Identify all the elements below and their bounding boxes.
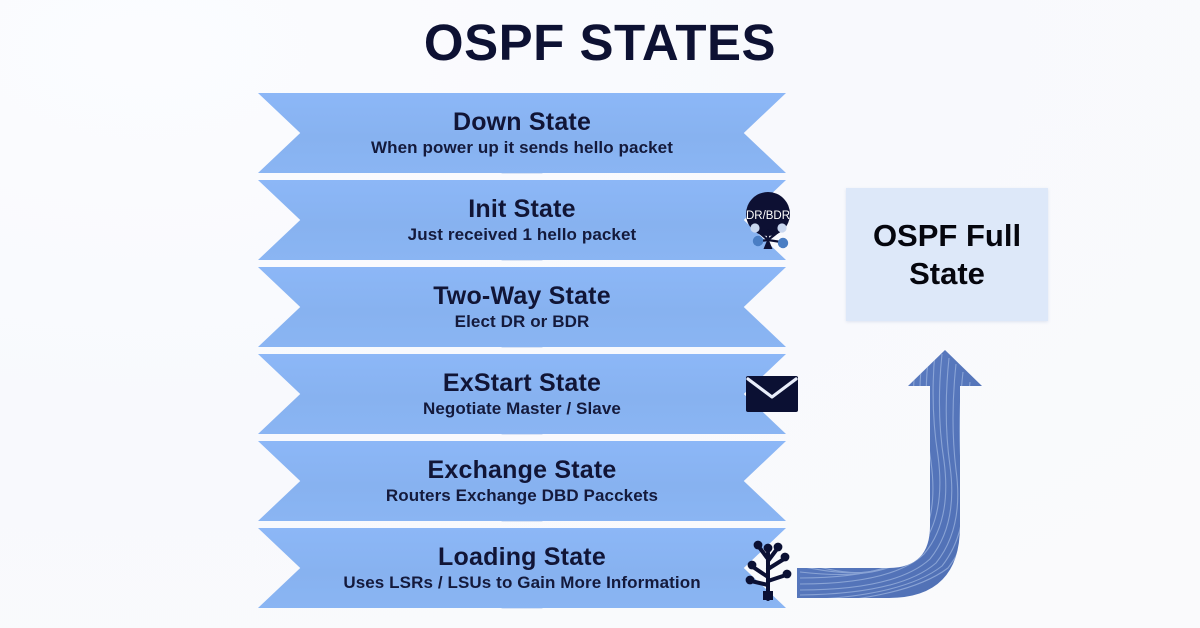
page-title: OSPF STATES [0,16,1200,70]
ribbon-shape [258,528,786,608]
ospf-state-list: Down State When power up it sends hello … [258,93,786,615]
svg-text:DR/BDR: DR/BDR [746,210,790,222]
state-banner-down[interactable]: Down State When power up it sends hello … [258,93,786,173]
curved-up-arrow [780,316,1010,608]
ospf-full-state-box[interactable]: OSPF Full State [846,188,1048,321]
state-banner-init[interactable]: Init State Just received 1 hello packet … [258,180,786,260]
state-banner-loading[interactable]: Loading State Uses LSRs / LSUs to Gain M… [258,528,786,608]
ribbon-shape [258,441,786,521]
state-banner-two-way[interactable]: Two-Way State Elect DR or BDR [258,267,786,347]
ribbon-shape [258,267,786,347]
state-banner-exchange[interactable]: Exchange State Routers Exchange DBD Pacc… [258,441,786,521]
full-state-label-line1: OSPF Full [865,217,1029,255]
full-state-label-line2: State [901,255,993,293]
ribbon-shape [258,93,786,173]
ribbon-shape [258,354,786,434]
dr-bdr-network-icon: DR/BDR [736,188,800,252]
ribbon-shape [258,180,786,260]
state-banner-exstart[interactable]: ExStart State Negotiate Master / Slave [258,354,786,434]
